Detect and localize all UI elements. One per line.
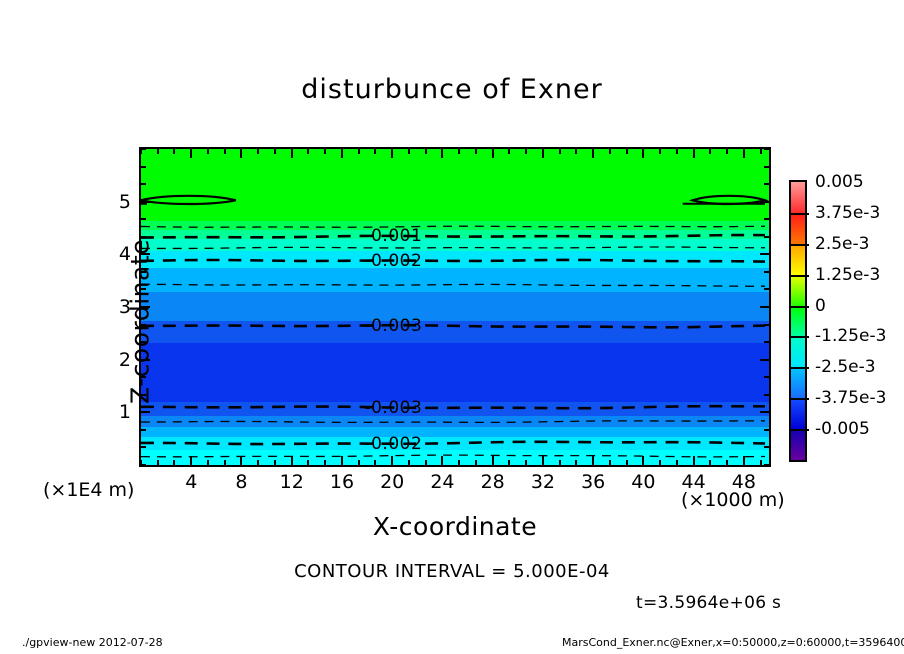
y-axis-tick xyxy=(764,271,769,273)
contour-value-label: -0.003 xyxy=(364,316,422,336)
contour-line xyxy=(141,235,765,238)
x-axis-tick-label: 8 xyxy=(235,471,247,493)
x-axis-units: (×1000 m) xyxy=(681,489,785,511)
colorbar-segment xyxy=(791,275,805,306)
x-axis-tick xyxy=(475,460,477,465)
x-axis-tick xyxy=(458,460,460,465)
x-axis-tick xyxy=(425,149,427,154)
x-axis-tick xyxy=(324,460,326,465)
contour-line xyxy=(141,284,765,286)
colorbar-tick xyxy=(791,367,809,369)
x-axis-tick xyxy=(642,456,644,465)
page-title: disturbunce of Exner xyxy=(0,74,904,105)
time-stamp: t=3.5964e+06 s xyxy=(636,593,781,613)
x-axis-tick xyxy=(190,149,192,158)
x-axis-tick xyxy=(542,456,544,465)
x-axis-tick xyxy=(207,460,209,465)
y-axis-tick xyxy=(764,464,769,466)
y-axis-tick xyxy=(764,166,769,168)
y-axis-tick xyxy=(764,218,769,220)
colorbar-tick xyxy=(791,306,809,308)
x-axis-tick xyxy=(575,460,577,465)
x-axis-tick-label: 20 xyxy=(380,471,404,493)
colorbar-tick xyxy=(791,398,809,400)
colorbar-tick-label: 0 xyxy=(815,296,826,316)
x-axis-tick xyxy=(441,456,443,465)
contour-line xyxy=(141,325,765,327)
x-axis-tick xyxy=(173,149,175,154)
contour-value-label: -0.003 xyxy=(364,398,422,418)
colorbar-segment xyxy=(791,429,805,460)
x-axis-tick xyxy=(240,456,242,465)
x-axis-tick xyxy=(274,149,276,154)
x-axis-tick-label: 36 xyxy=(581,471,605,493)
colorbar-tick-label: 2.5e-3 xyxy=(815,234,869,254)
x-axis-tick-label: 40 xyxy=(631,471,655,493)
x-axis-tick xyxy=(374,460,376,465)
x-axis-tick xyxy=(157,149,159,154)
contour-line xyxy=(141,455,765,457)
y-axis-tick xyxy=(764,341,769,343)
x-axis-tick xyxy=(224,149,226,154)
x-axis-tick xyxy=(358,460,360,465)
x-axis-tick xyxy=(492,149,494,158)
y-axis-units: (×1E4 m) xyxy=(43,479,134,501)
colorbar-tick-label: -2.5e-3 xyxy=(815,357,876,377)
x-axis-tick xyxy=(693,456,695,465)
y-axis-tick xyxy=(764,324,769,326)
colorbar-segment xyxy=(791,367,805,398)
x-axis-tick xyxy=(760,460,762,465)
x-axis-tick xyxy=(508,460,510,465)
x-axis-tick xyxy=(525,460,527,465)
colorbar-segment xyxy=(791,244,805,275)
x-axis-tick xyxy=(441,149,443,158)
y-axis-tick xyxy=(141,148,146,150)
colorbar-tick-label: -3.75e-3 xyxy=(815,388,886,408)
x-axis-tick xyxy=(408,149,410,154)
x-axis-tick-label: 24 xyxy=(430,471,454,493)
footer-command: ./gpview-new 2012-07-28 xyxy=(22,636,163,649)
x-axis-tick xyxy=(609,149,611,154)
x-axis-tick xyxy=(173,460,175,465)
y-axis-tick xyxy=(764,429,769,431)
x-axis-title: X-coordinate xyxy=(139,512,771,541)
y-axis-tick xyxy=(760,411,769,413)
x-axis-tick xyxy=(676,460,678,465)
x-axis-tick xyxy=(626,149,628,154)
colorbar-tick xyxy=(791,336,809,338)
x-axis-tick-label: 16 xyxy=(330,471,354,493)
x-axis-tick xyxy=(659,460,661,465)
x-axis-tick xyxy=(508,149,510,154)
y-axis-tick xyxy=(764,148,769,150)
x-axis-tick-label: 4 xyxy=(185,471,197,493)
x-axis-tick xyxy=(525,149,527,154)
contour-line xyxy=(141,226,765,227)
colorbar-tick-label: 1.25e-3 xyxy=(815,265,880,285)
y-axis-tick xyxy=(760,201,769,203)
colorbar-tick-label: -0.005 xyxy=(815,419,870,439)
x-axis-tick xyxy=(257,149,259,154)
x-axis-tick xyxy=(324,149,326,154)
contour-closed-feature xyxy=(141,196,236,204)
contour-value-label: -0.002 xyxy=(364,434,422,454)
x-axis-tick xyxy=(207,149,209,154)
x-axis-tick xyxy=(358,149,360,154)
x-axis-tick xyxy=(659,149,661,154)
contour-line xyxy=(141,421,765,423)
y-axis-tick xyxy=(764,376,769,378)
footer-source: MarsCond_Exner.nc@Exner,x=0:50000,z=0:60… xyxy=(562,636,904,649)
x-axis-tick xyxy=(592,456,594,465)
x-axis-tick xyxy=(592,149,594,158)
contour-line xyxy=(141,260,765,262)
y-axis-tick xyxy=(764,446,769,448)
x-axis-tick-label: 28 xyxy=(481,471,505,493)
y-axis-tick xyxy=(760,359,769,361)
x-axis-tick xyxy=(274,460,276,465)
x-axis-tick xyxy=(626,460,628,465)
x-axis-tick xyxy=(240,149,242,158)
y-axis-tick xyxy=(760,253,769,255)
contour-plot-canvas[interactable] xyxy=(139,147,771,467)
contour-line-layer xyxy=(141,149,769,467)
colorbar-tick-label: -1.25e-3 xyxy=(815,326,886,346)
x-axis-tick xyxy=(609,460,611,465)
x-axis-tick xyxy=(559,149,561,154)
x-axis-tick xyxy=(726,460,728,465)
x-axis-tick xyxy=(341,149,343,158)
x-axis-tick xyxy=(475,149,477,154)
colorbar-segment xyxy=(791,398,805,429)
contour-line xyxy=(141,406,765,408)
x-axis-tick xyxy=(743,149,745,158)
x-axis-tick xyxy=(575,149,577,154)
contour-value-label: -0.001 xyxy=(364,226,422,246)
colorbar-tick-label: 3.75e-3 xyxy=(815,203,880,223)
x-axis-tick xyxy=(374,149,376,154)
contour-line xyxy=(141,247,765,248)
x-axis-tick xyxy=(257,460,259,465)
x-axis-tick xyxy=(726,149,728,154)
x-axis-tick xyxy=(458,149,460,154)
colorbar-segment xyxy=(791,213,805,244)
x-axis-tick xyxy=(492,456,494,465)
x-axis-tick xyxy=(709,460,711,465)
x-axis-tick xyxy=(341,456,343,465)
colorbar-tick-label: 0.005 xyxy=(815,172,864,192)
x-axis-tick xyxy=(224,460,226,465)
x-axis-tick xyxy=(676,149,678,154)
colorbar-tick xyxy=(791,275,809,277)
x-axis-tick xyxy=(157,460,159,465)
y-axis-tick xyxy=(764,183,769,185)
contour-line xyxy=(141,442,765,444)
x-axis-tick xyxy=(307,149,309,154)
x-axis-tick xyxy=(291,149,293,158)
x-axis-tick xyxy=(760,149,762,154)
colorbar-tick xyxy=(791,213,809,215)
x-axis-tick xyxy=(408,460,410,465)
colorbar-segment xyxy=(791,306,805,337)
x-axis-tick xyxy=(743,456,745,465)
colorbar-tick xyxy=(791,244,809,246)
x-axis-tick xyxy=(291,456,293,465)
colorbar-segment xyxy=(791,336,805,367)
x-axis-tick xyxy=(391,456,393,465)
colorbar-segment xyxy=(791,182,805,213)
y-axis-tick xyxy=(764,394,769,396)
x-axis-tick xyxy=(693,149,695,158)
x-axis-tick xyxy=(190,456,192,465)
colorbar-tick xyxy=(791,429,809,431)
x-axis-tick xyxy=(559,460,561,465)
x-axis-tick-label: 12 xyxy=(280,471,304,493)
x-axis-tick xyxy=(425,460,427,465)
contour-value-label: -0.002 xyxy=(364,251,422,271)
y-axis-tick xyxy=(760,306,769,308)
x-axis-tick xyxy=(542,149,544,158)
x-axis-tick xyxy=(709,149,711,154)
x-axis-tick xyxy=(642,149,644,158)
x-axis-tick-label: 32 xyxy=(531,471,555,493)
x-axis-tick xyxy=(391,149,393,158)
contour-interval-note: CONTOUR INTERVAL = 5.000E-04 xyxy=(0,561,904,582)
y-axis-title: Z-coordinate xyxy=(126,162,155,482)
y-axis-tick xyxy=(764,288,769,290)
y-axis-tick xyxy=(764,236,769,238)
x-axis-tick xyxy=(307,460,309,465)
colorbar-gradient xyxy=(789,180,807,462)
